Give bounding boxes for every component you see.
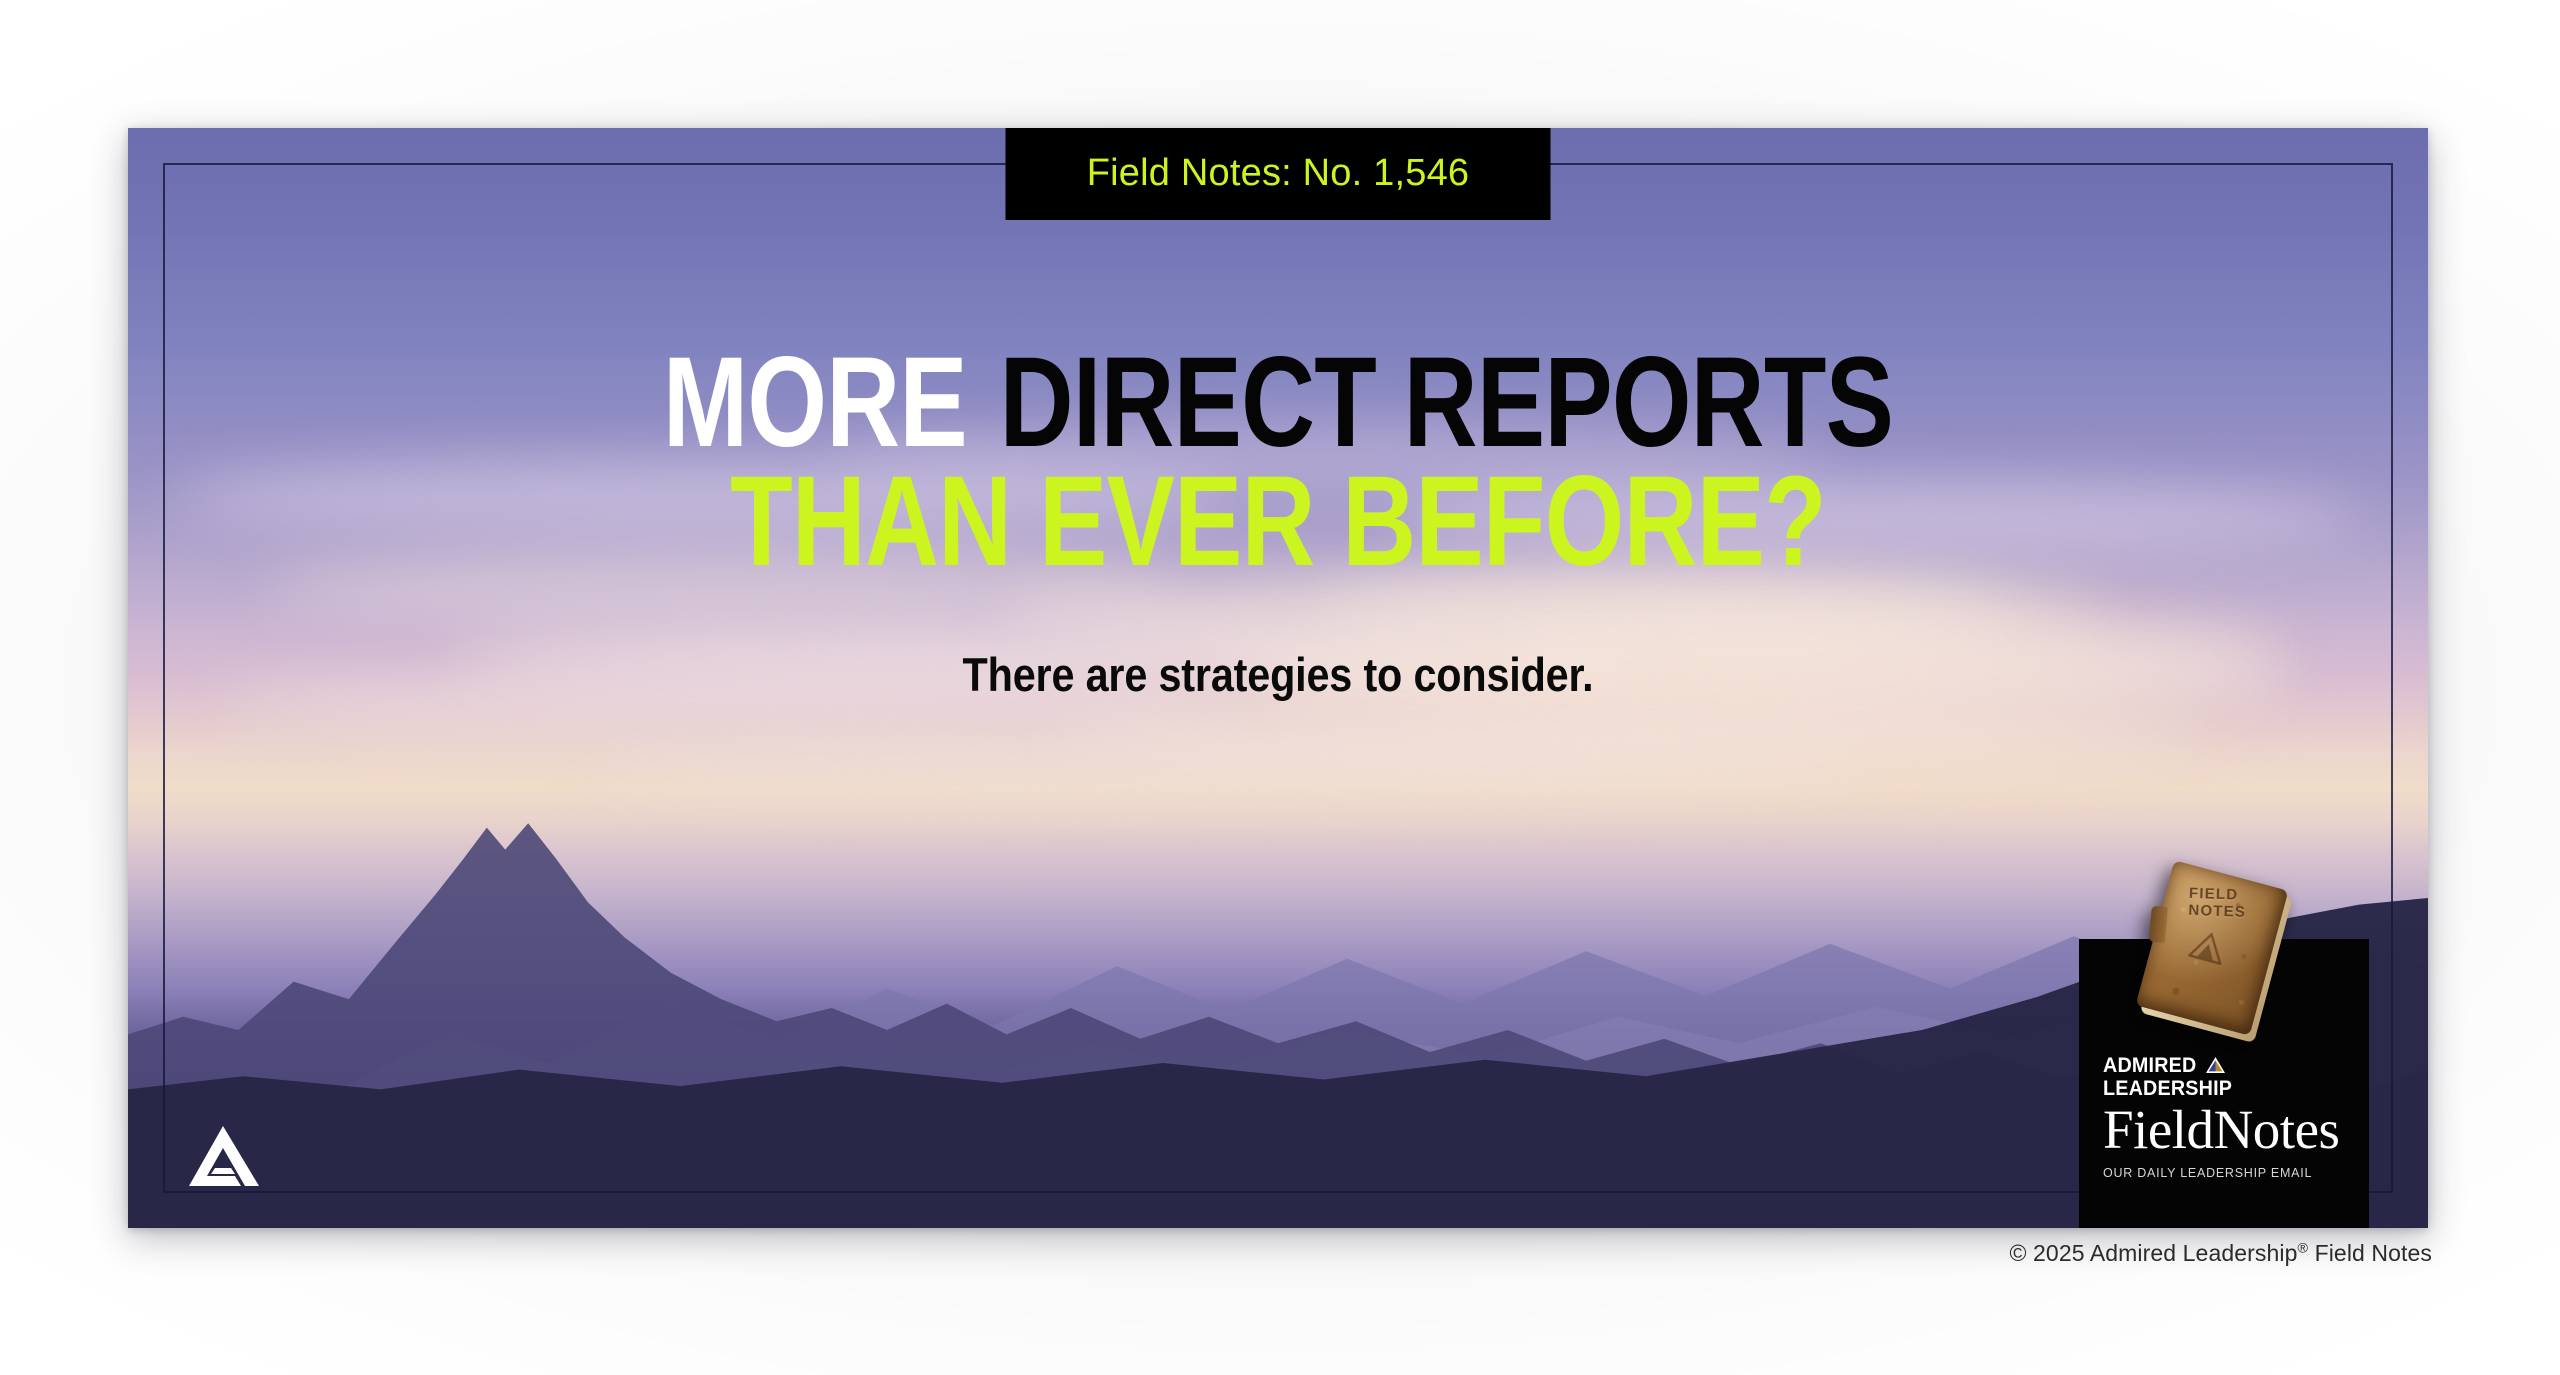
promo-tagline: OUR DAILY LEADERSHIP EMAIL [2103, 1166, 2369, 1180]
brand-word-admired: ADMIRED [2103, 1055, 2196, 1076]
copyright-notice: © 2025 Admired Leadership® Field Notes [2010, 1240, 2433, 1267]
wordmark-notes: Notes [2214, 1099, 2340, 1160]
journal-spine [2149, 906, 2168, 943]
registered-trademark-icon: ® [2297, 1240, 2308, 1256]
headline-block: MOREDIRECT REPORTS THAN EVER BEFORE? The… [128, 343, 2428, 702]
journal-title-line-2: NOTES [2188, 903, 2246, 922]
admired-leadership-monogram-icon [185, 1124, 261, 1188]
wordmark-field: Field [2103, 1099, 2214, 1160]
headline: MOREDIRECT REPORTS THAN EVER BEFORE? [406, 343, 2150, 581]
issue-banner: Field Notes: No. 1,546 [1006, 128, 1551, 220]
brand-logo-row: ADMIRED [2103, 1055, 2369, 1076]
brand-word-leadership: LEADERSHIP [2103, 1078, 2353, 1099]
copyright-text: © 2025 Admired Leadership [2010, 1240, 2298, 1266]
subheadline: There are strategies to consider. [319, 647, 2237, 702]
promo-branding: ADMIRED LEADERSHIP FieldNotes OUR DAILY … [2079, 1055, 2369, 1180]
field-notes-promo[interactable]: FIELD NOTES ADMIRED [2079, 873, 2369, 1228]
product-wordmark: FieldNotes [2103, 1102, 2369, 1157]
headline-line-1: MOREDIRECT REPORTS [406, 343, 2150, 462]
journal-embossed-title: FIELD NOTES [2188, 886, 2247, 922]
copyright-suffix: Field Notes [2308, 1240, 2432, 1266]
headline-line-2: THAN EVER BEFORE? [406, 462, 2150, 581]
issue-number-label: Field Notes: No. 1,546 [1076, 154, 1481, 192]
admired-leadership-triangle-icon [2205, 1056, 2226, 1074]
hero-poster: Field Notes: No. 1,546 MOREDIRECT REPORT… [128, 128, 2428, 1228]
